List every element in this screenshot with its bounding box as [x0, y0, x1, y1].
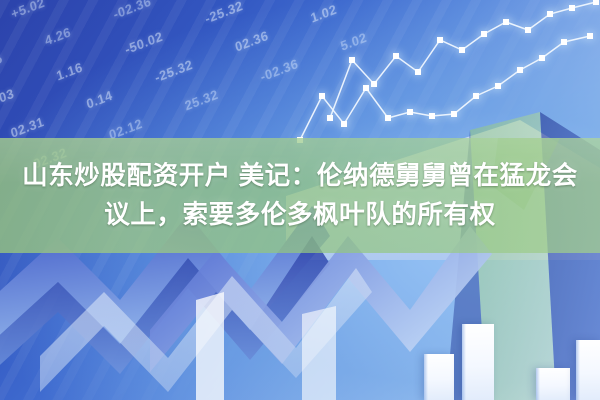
- title-line-1: 山东炒股配资开户 美记：伦纳德舅舅曾在猛龙会: [22, 158, 578, 194]
- title-line-2: 议上，索要多伦多枫叶队的所有权: [104, 197, 496, 233]
- banner-image: -50.02-02.36+5.02-11.2521.02.36-02.36-11…: [0, 0, 600, 400]
- banner-title: 山东炒股配资开户 美记：伦纳德舅舅曾在猛龙会 议上，索要多伦多枫叶队的所有权: [0, 138, 600, 253]
- bar-column: [536, 368, 570, 400]
- bar-column: [576, 340, 600, 400]
- bar-column: [424, 354, 454, 400]
- bar-column: [462, 324, 494, 400]
